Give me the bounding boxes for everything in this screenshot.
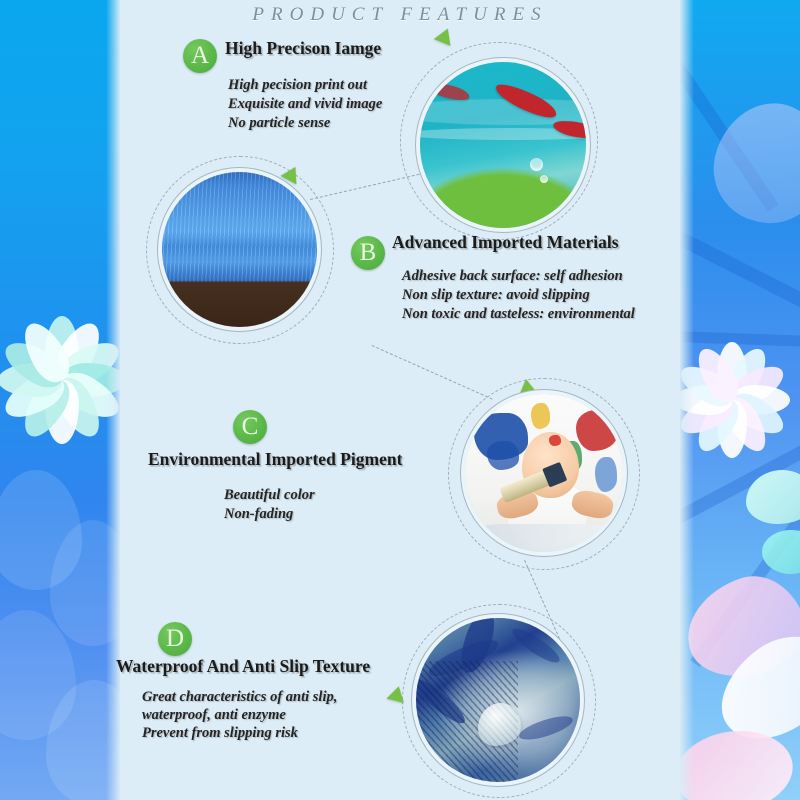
painting-baby-photo [465, 394, 623, 552]
feature-heading-d: Waterproof And Anti Slip Texture [116, 656, 370, 677]
feature-heading-a: High Precison Iamge [225, 38, 381, 59]
green-arrow-marker [517, 378, 537, 395]
blue-fabric-image [162, 172, 317, 327]
painting-baby-image [465, 394, 623, 552]
product-features-poster: PRODUCT FEATURES A High Precison Iamge H… [0, 0, 800, 800]
feature-body-d-line-2: waterproof, anti enzyme [142, 706, 286, 725]
waterproof-texture-photo [416, 618, 580, 782]
feature-body-d-line-1: Great characteristics of anti slip, [142, 688, 337, 707]
right-decorative-border [680, 0, 800, 800]
feature-body-b-line-2: Non slip texture: avoid slipping [402, 286, 590, 305]
feature-badge-c: C [233, 410, 267, 444]
main-content-panel: PRODUCT FEATURES A High Precison Iamge H… [120, 0, 680, 800]
feature-heading-b: Advanced Imported Materials [392, 232, 619, 253]
waterproof-texture-image [416, 618, 580, 782]
green-arrow-marker [386, 684, 407, 703]
feature-badge-b: B [351, 236, 385, 270]
water-droplet-icon [478, 703, 521, 746]
blue-fabric-material-photo [162, 172, 317, 327]
feature-body-a-line-2: Exquisite and vivid image [228, 95, 382, 114]
koi-pond-print-image [420, 62, 586, 228]
flower-pinwheel-motif [0, 0, 120, 800]
feature-body-a-line-3: No particle sense [228, 114, 330, 133]
feature-body-d-line-3: Prevent from slipping risk [142, 724, 298, 743]
left-decorative-border [0, 0, 120, 800]
green-arrow-marker [434, 25, 456, 46]
feature-heading-c: Environmental Imported Pigment [148, 449, 402, 470]
petal-blossom-motif [680, 0, 800, 800]
dashed-connector-line [372, 345, 493, 400]
feature-badge-a: A [183, 39, 217, 73]
feature-body-a-line-1: High pecision print out [228, 76, 367, 95]
feature-body-c-line-2: Non-fading [224, 505, 293, 524]
feature-body-c-line-1: Beautiful color [224, 486, 315, 505]
page-title: PRODUCT FEATURES [120, 4, 680, 26]
feature-badge-d: D [158, 622, 192, 656]
feature-body-b-line-1: Adhesive back surface: self adhesion [402, 267, 623, 286]
feature-body-b-line-3: Non toxic and tasteless: environmental [402, 305, 635, 324]
koi-pond-print-photo [420, 62, 586, 228]
